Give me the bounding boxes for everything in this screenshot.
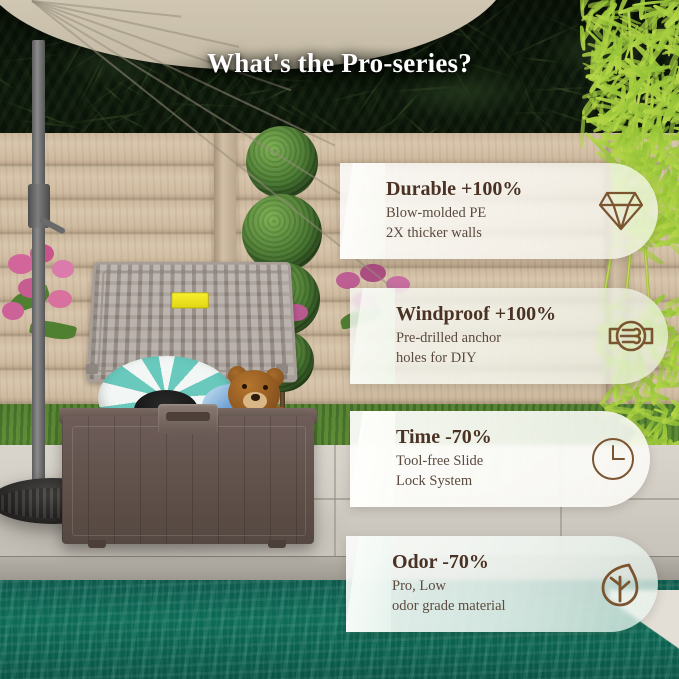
lid-warning-label: [171, 292, 209, 308]
feature-line-1: Pro, Low: [392, 577, 584, 597]
lid-inner-frame: [97, 271, 287, 372]
page-title: What's the Pro-series?: [0, 48, 679, 79]
feature-line-1: Tool-free Slide: [396, 452, 576, 472]
product-infographic: What's the Pro-series?: [0, 0, 679, 679]
leaf-icon: [584, 561, 658, 607]
feature-title: Time -70%: [396, 426, 576, 449]
feature-line-2: odor grade material: [392, 597, 584, 617]
deck-box-panel-inset: [72, 426, 306, 536]
feature-line-1: Pre-drilled anchor: [396, 329, 594, 349]
lid-hinge-left: [86, 364, 98, 374]
wind-icon: [594, 316, 668, 356]
deck-box-latch-slot: [166, 412, 210, 421]
teddy-bear-eye-right: [263, 385, 268, 390]
teddy-bear-nose: [251, 394, 260, 401]
feature-title: Windproof +100%: [396, 303, 594, 326]
feature-line-2: 2X thicker walls: [386, 224, 584, 244]
diamond-icon: [584, 189, 658, 233]
umbrella-pole: [32, 40, 45, 488]
feature-card-text: Windproof +100% Pre-drilled anchor holes…: [350, 303, 594, 368]
feature-card-text: Odor -70% Pro, Low odor grade material: [346, 551, 584, 616]
feature-line-2: holes for DIY: [396, 349, 594, 369]
feature-card-odor[interactable]: Odor -70% Pro, Low odor grade material: [346, 536, 658, 632]
teddy-bear-eye-left: [242, 384, 247, 389]
clock-icon: [576, 436, 650, 482]
feature-card-time[interactable]: Time -70% Tool-free Slide Lock System: [350, 411, 650, 507]
patio-joint-2: [334, 445, 336, 557]
feature-card-durable[interactable]: Durable +100% Blow-molded PE 2X thicker …: [340, 163, 658, 259]
deck-box-foot-left: [88, 540, 106, 548]
feature-card-windproof[interactable]: Windproof +100% Pre-drilled anchor holes…: [350, 288, 668, 384]
feature-line-1: Blow-molded PE: [386, 204, 584, 224]
feature-title: Durable +100%: [386, 178, 584, 201]
feature-line-2: Lock System: [396, 472, 576, 492]
feature-title: Odor -70%: [392, 551, 584, 574]
deck-box-foot-right: [268, 540, 286, 548]
feature-card-text: Durable +100% Blow-molded PE 2X thicker …: [340, 178, 584, 243]
feature-card-text: Time -70% Tool-free Slide Lock System: [350, 426, 576, 491]
resin-deck-box: [62, 258, 314, 546]
